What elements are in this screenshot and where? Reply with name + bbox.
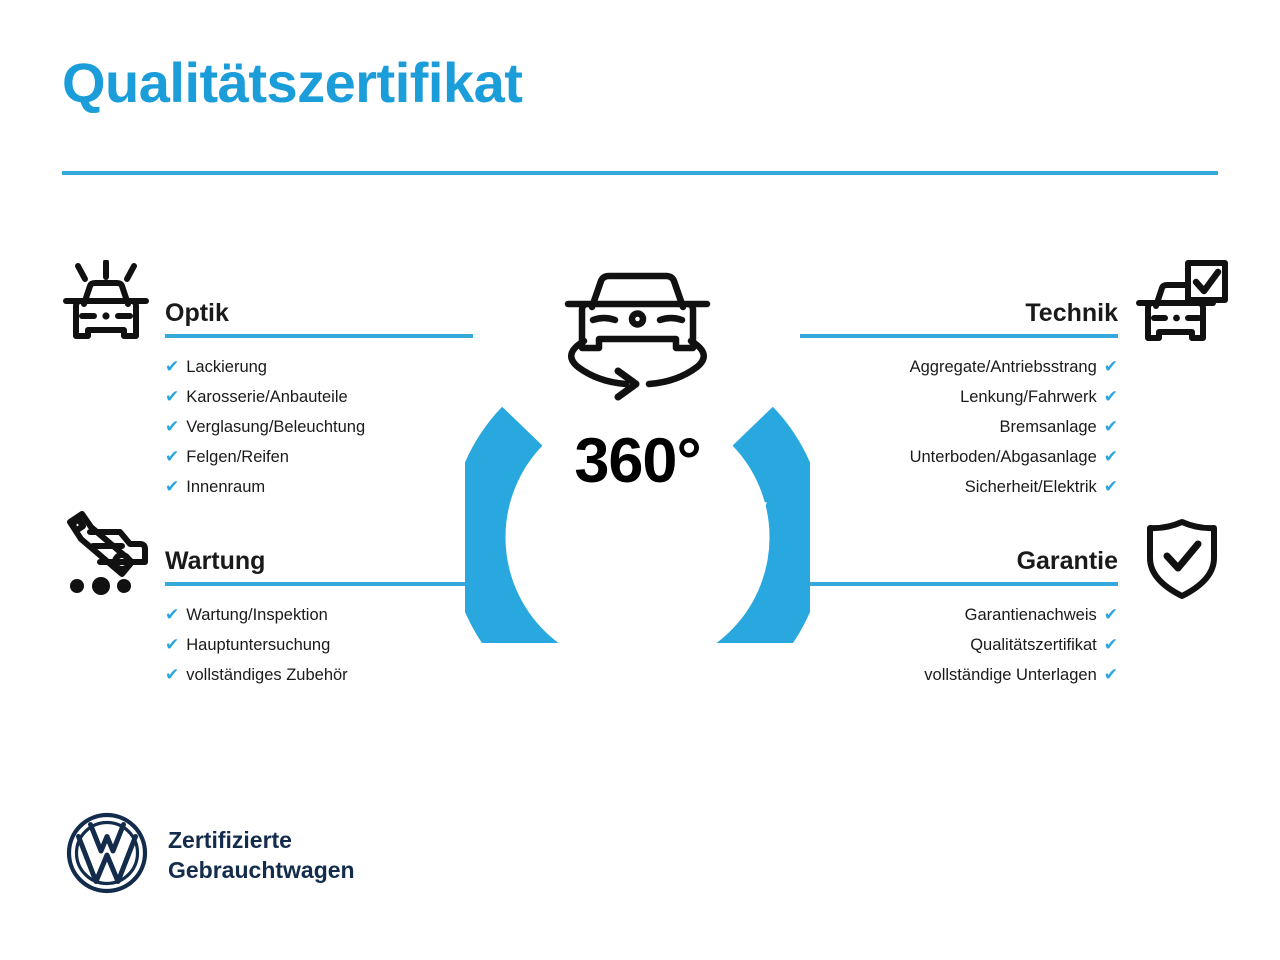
- list-item-label: vollständige Unterlagen: [924, 666, 1096, 684]
- check-icon: ✔: [165, 635, 179, 654]
- check-icon: ✔: [1104, 477, 1118, 496]
- check-icon: ✔: [165, 665, 179, 684]
- list-item-label: Qualitätszertifikat: [970, 636, 1097, 654]
- list-item-label: Lackierung: [186, 358, 267, 376]
- page-title: Qualitätszertifikat: [62, 52, 522, 114]
- list-item-label: Hauptuntersuchung: [186, 636, 330, 654]
- check-icon: ✔: [165, 417, 179, 436]
- list-item: Qualitätszertifikat✔: [800, 630, 1118, 660]
- section-optik-heading: Optik: [165, 300, 473, 326]
- section-wartung: Wartung ✔Wartung/Inspektion ✔Hauptunters…: [165, 548, 473, 706]
- check-icon: ✔: [165, 387, 179, 406]
- section-optik: Optik ✔Lackierung ✔Karosserie/Anbauteile…: [165, 300, 473, 518]
- section-optik-list: ✔Lackierung ✔Karosserie/Anbauteile ✔Verg…: [165, 352, 473, 502]
- check-icon: ✔: [1104, 417, 1118, 436]
- list-item-label: Unterboden/Abgasanlage: [910, 448, 1097, 466]
- section-garantie-heading: Garantie: [800, 548, 1118, 574]
- list-item: Lenkung/Fahrwerk✔: [800, 382, 1118, 412]
- section-technik-divider: [800, 334, 1118, 338]
- section-garantie-list: Garantienachweis✔ Qualitätszertifikat✔ v…: [800, 600, 1118, 690]
- badge-number: 360°: [465, 430, 810, 493]
- section-wartung-list: ✔Wartung/Inspektion ✔Hauptuntersuchung ✔…: [165, 600, 473, 690]
- footer-label: Zertifizierte Gebrauchtwagen: [168, 826, 355, 885]
- check-icon: ✔: [165, 357, 179, 376]
- list-item: Aggregate/Antriebsstrang✔: [800, 352, 1118, 382]
- check-icon: ✔: [1104, 665, 1118, 684]
- list-item-label: Sicherheit/Elektrik: [965, 478, 1097, 496]
- check-icon: ✔: [1104, 635, 1118, 654]
- list-item: ✔Felgen/Reifen: [165, 442, 473, 472]
- list-item: ✔Lackierung: [165, 352, 473, 382]
- list-item-label: Garantienachweis: [965, 606, 1097, 624]
- check-icon: ✔: [165, 477, 179, 496]
- list-item: Sicherheit/Elektrik✔: [800, 472, 1118, 502]
- list-item: ✔Hauptuntersuchung: [165, 630, 473, 660]
- section-technik: Technik Aggregate/Antriebsstrang✔ Lenkun…: [800, 300, 1118, 518]
- section-wartung-heading: Wartung: [165, 548, 473, 574]
- car-rotate-360-icon: [568, 276, 707, 397]
- list-item-label: Aggregate/Antriebsstrang: [910, 358, 1097, 376]
- list-item-label: vollständiges Zubehör: [186, 666, 347, 684]
- car-front-checkbox-icon: [1136, 258, 1228, 355]
- check-icon: ✔: [1104, 357, 1118, 376]
- footer-brand: Zertifizierte Gebrauchtwagen: [66, 812, 355, 899]
- check-icon: ✔: [165, 447, 179, 466]
- list-item-label: Karosserie/Anbauteile: [186, 388, 347, 406]
- check-icon: ✔: [165, 605, 179, 624]
- check-icon: ✔: [1104, 447, 1118, 466]
- badge-ring-label: Gebrauchtwagen-Check: [501, 493, 773, 610]
- list-item: ✔Wartung/Inspektion: [165, 600, 473, 630]
- check-icon: ✔: [1104, 605, 1118, 624]
- list-item: ✔Karosserie/Anbauteile: [165, 382, 473, 412]
- list-item: ✔Innenraum: [165, 472, 473, 502]
- volkswagen-logo: [66, 812, 148, 899]
- list-item-label: Verglasung/Beleuchtung: [186, 418, 365, 436]
- badge-360-gebrauchtwagen-check: Gebrauchtwagen-Check: [465, 243, 810, 643]
- list-item-label: Lenkung/Fahrwerk: [960, 388, 1097, 406]
- section-wartung-divider: [165, 582, 473, 586]
- section-garantie: Garantie Garantienachweis✔ Qualitätszert…: [800, 548, 1118, 706]
- list-item: vollständige Unterlagen✔: [800, 660, 1118, 690]
- list-item: Unterboden/Abgasanlage✔: [800, 442, 1118, 472]
- badge-ring-label-text: Gebrauchtwagen-Check: [501, 493, 773, 610]
- title-divider: [62, 171, 1218, 175]
- check-icon: ✔: [1104, 387, 1118, 406]
- shield-check-icon: [1146, 518, 1218, 605]
- list-item-label: Wartung/Inspektion: [186, 606, 328, 624]
- list-item-label: Bremsanlage: [1000, 418, 1097, 436]
- section-technik-heading: Technik: [800, 300, 1118, 326]
- list-item: Bremsanlage✔: [800, 412, 1118, 442]
- list-item-label: Innenraum: [186, 478, 265, 496]
- section-garantie-divider: [800, 582, 1118, 586]
- list-item: ✔Verglasung/Beleuchtung: [165, 412, 473, 442]
- quality-certificate-page: Qualitätszertifikat Optik ✔Lackierung: [0, 0, 1280, 960]
- wrench-car-service-icon: [60, 510, 152, 603]
- list-item-label: Felgen/Reifen: [186, 448, 289, 466]
- section-optik-divider: [165, 334, 473, 338]
- car-front-shine-icon: [60, 260, 152, 357]
- section-technik-list: Aggregate/Antriebsstrang✔ Lenkung/Fahrwe…: [800, 352, 1118, 502]
- list-item: ✔vollständiges Zubehör: [165, 660, 473, 690]
- list-item: Garantienachweis✔: [800, 600, 1118, 630]
